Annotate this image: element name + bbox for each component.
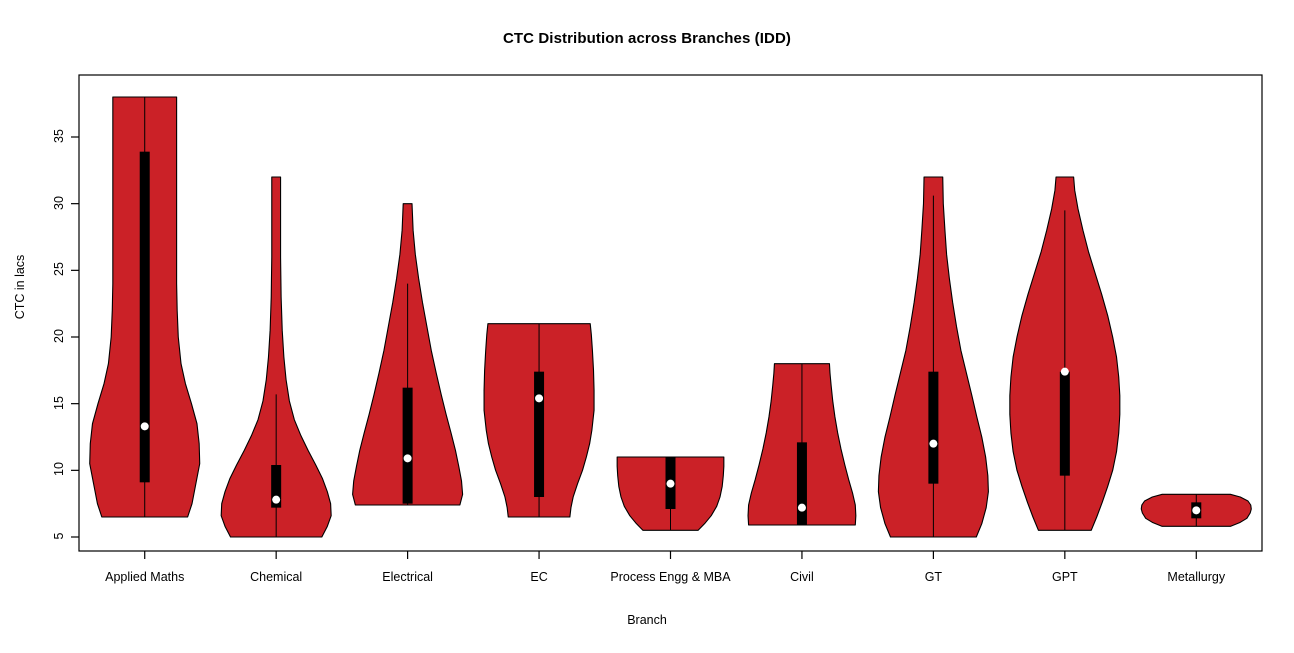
violin-gt [878,177,988,537]
x-axis-tick-label: Process Engg & MBA [610,570,730,584]
violin-median-marker [1061,368,1069,376]
violin-civil [748,364,856,525]
y-axis-tick-label: 35 [52,116,66,156]
violin-median-marker [798,504,806,512]
y-axis-tick-label: 10 [52,449,66,489]
violin-iqr-box [797,442,807,525]
violin-median-marker [1192,506,1200,514]
violin-median-marker [929,440,937,448]
violin-chemical [221,177,331,537]
violin-iqr-box [1060,372,1070,476]
violin-median-marker [404,454,412,462]
violin-iqr-box [534,372,544,497]
violin-applied-maths [90,97,200,517]
x-axis-tick-label: Civil [790,570,814,584]
y-axis-tick-label: 30 [52,183,66,223]
violin-median-marker [272,496,280,504]
plot-canvas [0,0,1294,653]
violin-metallurgy [1141,494,1251,526]
x-axis-tick-label: Chemical [250,570,302,584]
x-axis-tick-label: EC [530,570,547,584]
y-axis-tick-label: 25 [52,249,66,289]
x-axis-tick-label: Applied Maths [105,570,184,584]
violin-gpt [1010,177,1120,530]
violin-median-marker [141,422,149,430]
violin-ec [484,324,594,517]
violin-plot-figure: CTC Distribution across Branches (IDD) C… [0,0,1294,653]
x-axis-tick-label: Metallurgy [1167,570,1225,584]
violin-iqr-box [140,152,150,483]
x-axis-tick-label: Electrical [382,570,433,584]
y-axis-tick-label: 20 [52,316,66,356]
y-axis-tick-label: 15 [52,383,66,423]
violin-electrical [353,204,463,505]
violin-iqr-box [928,372,938,484]
violin-iqr-box [403,388,413,504]
y-axis-tick-label: 5 [52,516,66,556]
x-axis-tick-label: GPT [1052,570,1078,584]
violin-process-engg-mba [617,457,724,530]
violin-median-marker [535,394,543,402]
x-axis-tick-label: GT [925,570,942,584]
violin-median-marker [667,480,675,488]
